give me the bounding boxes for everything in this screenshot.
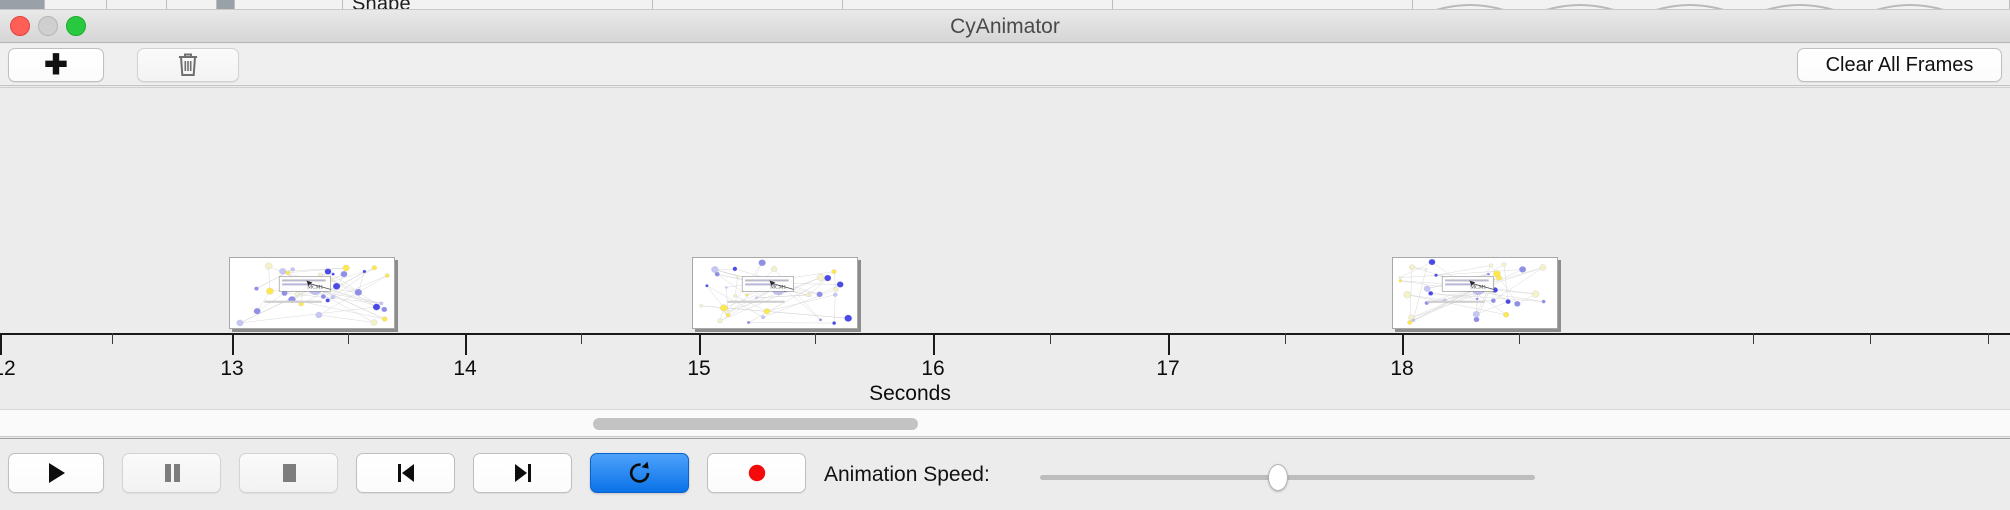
skip-to-start-button[interactable] <box>356 453 455 493</box>
background-shape-label: Shape <box>352 0 411 10</box>
background-window-strip: Shape <box>0 0 2010 10</box>
timeline-top-divider <box>0 87 2010 88</box>
ruler-minor-tick <box>1870 333 1871 344</box>
ruler-major-tick <box>465 333 467 355</box>
trash-icon <box>176 51 200 79</box>
ruler-baseline <box>0 333 2010 335</box>
svg-text:MCM1: MCM1 <box>1470 284 1486 290</box>
ruler-minor-tick <box>348 333 349 344</box>
ruler-minor-tick <box>1285 333 1286 344</box>
ruler-minor-tick <box>1519 333 1520 344</box>
record-icon <box>744 460 770 486</box>
animation-speed-slider-thumb[interactable] <box>1268 464 1288 491</box>
record-button[interactable] <box>707 453 806 493</box>
skip-to-end-button[interactable] <box>473 453 572 493</box>
window-title: CyAnimator <box>0 15 2010 39</box>
keyframe-thumbnail[interactable]: MCM1 <box>229 257 395 329</box>
ruler-tick-label: 15 <box>687 357 710 381</box>
pause-icon <box>159 460 185 486</box>
ruler-major-tick <box>1402 333 1404 355</box>
pause-button <box>122 453 221 493</box>
horizontal-scrollbar-thumb[interactable] <box>593 418 918 430</box>
keyframe-thumbnail[interactable]: MCM1 <box>1392 257 1558 329</box>
plus-icon: ✚ <box>44 51 67 79</box>
cyanimator-window: Shape CyAnimator ✚ Clear All Frames <box>0 0 2010 510</box>
toolbar: ✚ Clear All Frames <box>0 44 2010 86</box>
ruler-minor-tick <box>581 333 582 344</box>
animation-speed-slider[interactable] <box>1040 475 1535 480</box>
skip-back-icon <box>393 460 419 486</box>
add-frame-button[interactable]: ✚ <box>8 48 104 82</box>
play-icon <box>43 460 69 486</box>
ruler-major-tick <box>0 333 2 355</box>
delete-frame-button[interactable] <box>137 48 239 82</box>
clear-all-frames-button[interactable]: Clear All Frames <box>1797 48 2002 82</box>
timeline-panel[interactable]: MCM1 MCM1 MCM1 12131415161718 Seconds <box>0 87 2010 402</box>
ruler-minor-tick <box>1988 333 1989 344</box>
horizontal-scrollbar-track[interactable] <box>0 409 2010 437</box>
ruler-tick-label: 12 <box>0 357 16 381</box>
play-button[interactable] <box>8 453 104 493</box>
ruler-tick-label: 18 <box>1390 357 1413 381</box>
svg-text:MCM1: MCM1 <box>307 284 323 290</box>
playback-toolbar: Animation Speed: <box>0 438 2010 510</box>
loop-icon <box>626 459 654 487</box>
axis-title: Seconds <box>0 382 2010 402</box>
ruler-major-tick <box>699 333 701 355</box>
ruler-minor-tick <box>112 333 113 344</box>
ruler-tick-label: 17 <box>1156 357 1179 381</box>
ruler-minor-tick <box>815 333 816 344</box>
stop-icon <box>276 460 302 486</box>
ruler-minor-tick <box>1050 333 1051 344</box>
ruler-major-tick <box>933 333 935 355</box>
keyframe-thumbnail[interactable]: MCM1 <box>692 257 858 329</box>
stop-button <box>239 453 338 493</box>
skip-forward-icon <box>510 460 536 486</box>
ruler-major-tick <box>232 333 234 355</box>
timeline-ruler: 12131415161718 <box>0 333 2010 363</box>
ruler-minor-tick <box>1753 333 1754 344</box>
ruler-tick-label: 14 <box>453 357 476 381</box>
ruler-tick-label: 13 <box>220 357 243 381</box>
ruler-tick-label: 16 <box>921 357 944 381</box>
title-bar[interactable]: CyAnimator <box>0 10 2010 43</box>
svg-text:MCM1: MCM1 <box>770 284 786 290</box>
ruler-major-tick <box>1168 333 1170 355</box>
background-arcs-icon <box>1410 0 2010 10</box>
loop-button[interactable] <box>590 453 689 493</box>
animation-speed-label: Animation Speed: <box>824 463 990 487</box>
